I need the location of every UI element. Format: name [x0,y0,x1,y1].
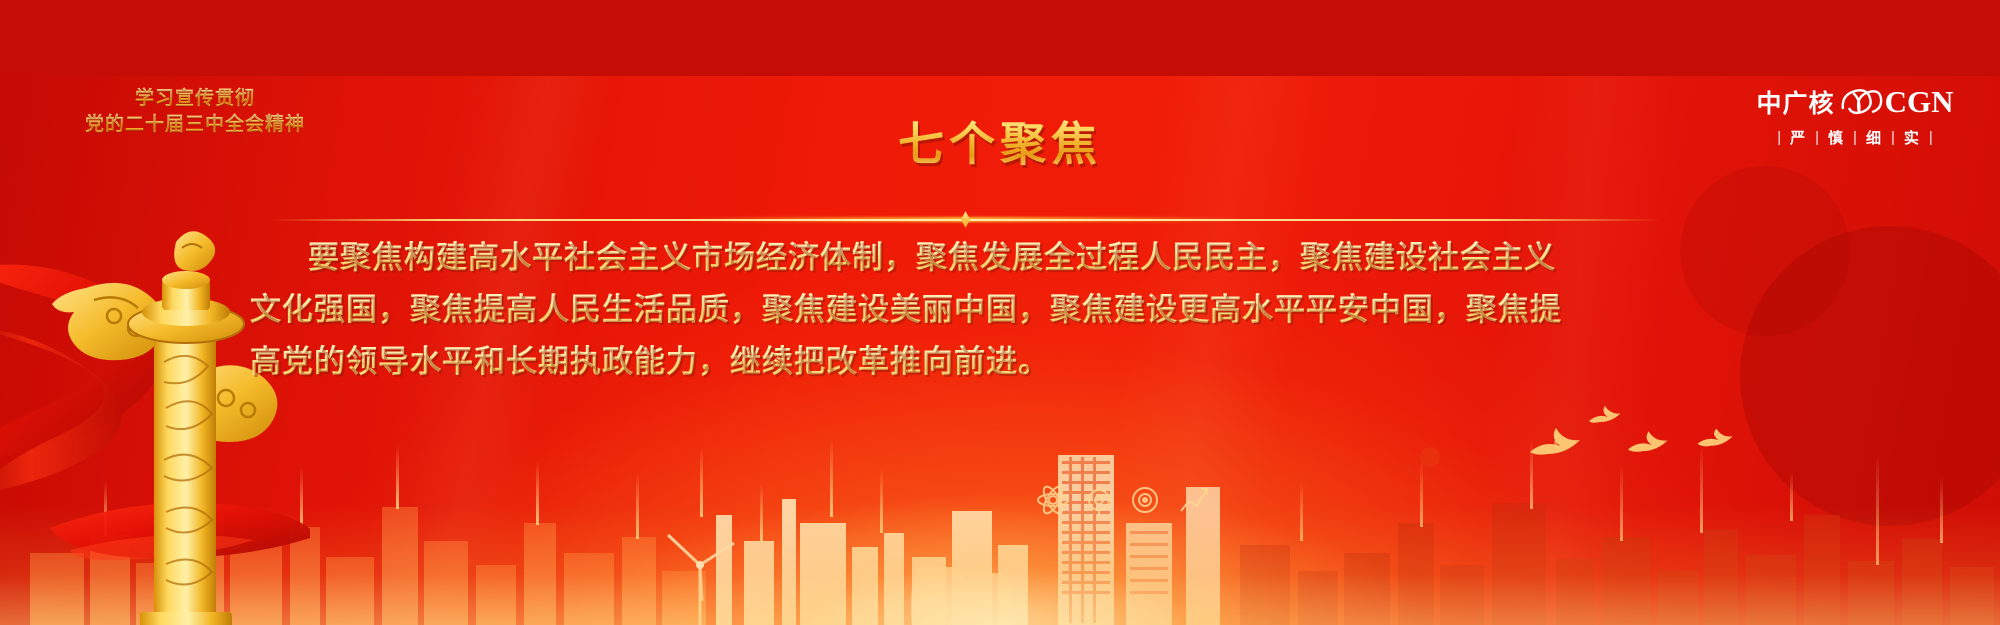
cgn-logo: 中广核 CGN | 严 | 慎 | 细 | 实 | [1740,84,1970,148]
gold-divider [270,217,1660,222]
growth-chart-icon [1181,489,1207,511]
logo-slogan: | 严 | 慎 | 细 | 实 | [1740,127,1970,148]
slogan-separator-4: | [1920,129,1942,146]
tech-icon-row [1035,475,1215,525]
gear-icon [1085,486,1113,514]
slogan-separator-1: | [1806,129,1828,146]
slogan-char-0: 严 [1790,127,1806,148]
body-line-1: 要聚焦构建高水平社会主义市场经济体制，聚焦发展全过程人民民主，聚焦建设社会主义 [250,232,1670,284]
logo-chinese-name: 中广核 [1757,84,1835,120]
page-title: 七个聚焦 [0,108,2000,174]
slogan-char-2: 细 [1866,127,1882,148]
poster-banner: 学习宣传贯彻 党的二十届三中全会精神 七个聚焦 要聚焦构建高水平社会主义市场经济… [0,0,2000,625]
slogan-separator-0: | [1768,129,1790,146]
slogan-separator-2: | [1844,129,1866,146]
body-line-2: 文化强国，聚焦提高人民生活品质，聚焦建设美丽中国，聚焦建设更高水平平安中国，聚焦… [250,284,1670,336]
slogan-char-1: 慎 [1828,127,1844,148]
slogan-separator-3: | [1882,129,1904,146]
logo-english-name: CGN [1885,84,1954,120]
atom-icon [1038,484,1068,516]
body-paragraph: 要聚焦构建高水平社会主义市场经济体制，聚焦发展全过程人民民主，聚焦建设社会主义 … [250,232,1670,388]
body-line-3: 高党的领导水平和长期执政能力，继续把改革推向前进。 [250,336,1670,388]
slogan-char-3: 实 [1904,127,1920,148]
flying-doves-icon [1520,400,1750,510]
logo-wordmark-row: 中广核 CGN [1740,84,1970,120]
target-icon [1133,488,1157,512]
cgn-swirl-icon [1837,87,1883,117]
page-title-text: 七个聚焦 [898,108,1102,174]
decorative-circle-small [1680,166,1850,336]
top-margin-band [0,0,2000,76]
